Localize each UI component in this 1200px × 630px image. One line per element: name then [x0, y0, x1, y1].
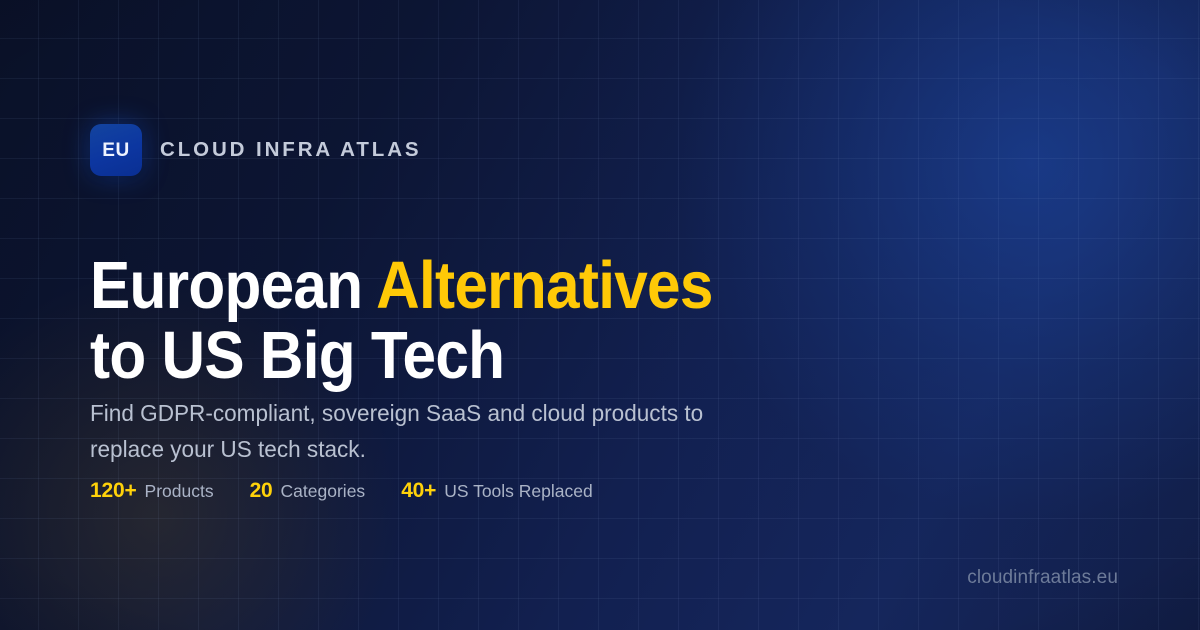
brand-name: CLOUD INFRA ATLAS [160, 140, 422, 161]
site-url-watermark: cloudinfraatlas.eu [967, 568, 1118, 587]
stat-value: 40+ [401, 480, 436, 501]
page-subtitle: Find GDPR-compliant, sovereign SaaS and … [90, 395, 800, 467]
headline-line-2: to US Big Tech [90, 321, 792, 391]
stat-item-categories: 20 Categories [250, 480, 366, 501]
stats-row: 120+ Products 20 Categories 40+ US Tools… [90, 480, 593, 501]
stat-value: 20 [250, 480, 273, 501]
stat-item-us-tools-replaced: 40+ US Tools Replaced [401, 480, 593, 501]
headline-accent-text: Alternatives [376, 248, 713, 323]
stat-label: US Tools Replaced [444, 483, 593, 501]
headline-line-1: European Alternatives [90, 251, 792, 321]
stat-value: 120+ [90, 480, 137, 501]
subtitle-line-1: Find GDPR-compliant, sovereign SaaS and … [90, 395, 800, 431]
og-card: EU CLOUD INFRA ATLAS European Alternativ… [0, 0, 1200, 630]
brand-lockup: EU CLOUD INFRA ATLAS [90, 124, 422, 176]
stat-label: Products [145, 483, 214, 501]
page-title: European Alternatives to US Big Tech [90, 251, 792, 391]
headline-plain-text: European [90, 248, 376, 323]
eu-badge-label: EU [102, 141, 130, 160]
eu-badge-icon: EU [90, 124, 142, 176]
subtitle-line-2: replace your US tech stack. [90, 431, 800, 467]
stat-item-products: 120+ Products [90, 480, 214, 501]
stat-label: Categories [281, 483, 366, 501]
card-content: EU CLOUD INFRA ATLAS European Alternativ… [0, 0, 1200, 630]
